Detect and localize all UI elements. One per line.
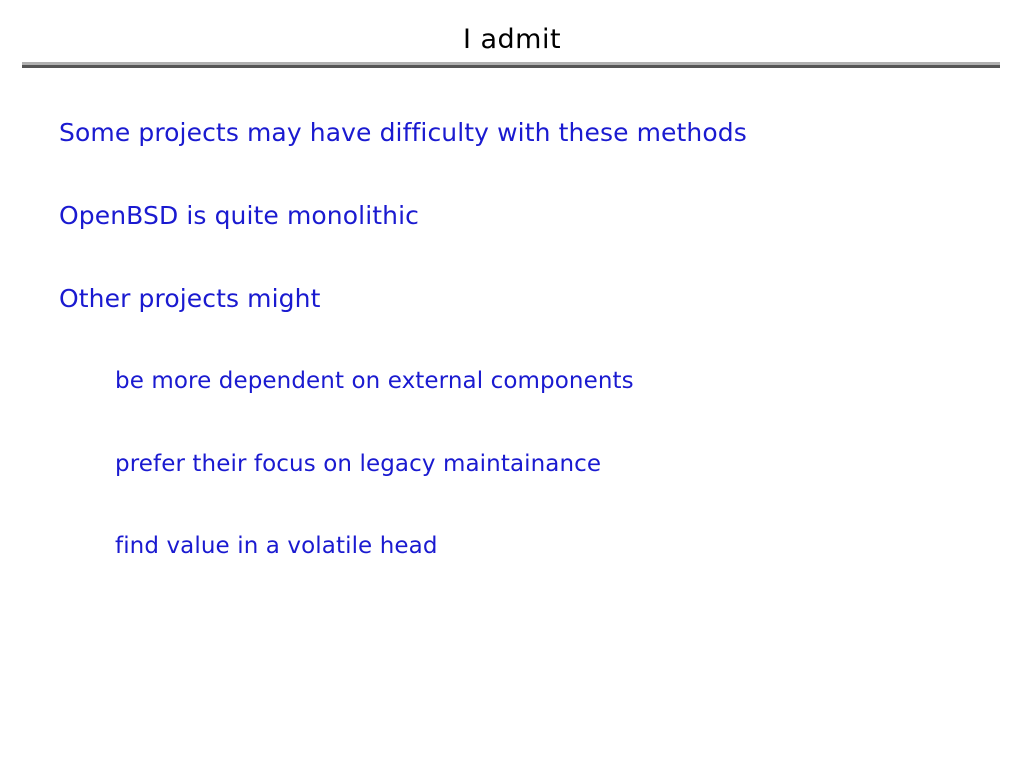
- slide: I admit Some projects may have difficult…: [0, 0, 1024, 768]
- bullet-item: OpenBSD is quite monolithic: [59, 203, 419, 228]
- sub-bullet-item: find value in a volatile head: [115, 535, 438, 558]
- bullet-item: Other projects might: [59, 286, 321, 311]
- slide-body: Some projects may have difficulty with t…: [0, 0, 1024, 768]
- bullet-item: Some projects may have difficulty with t…: [59, 120, 747, 145]
- sub-bullet-item: prefer their focus on legacy maintainanc…: [115, 453, 601, 476]
- sub-bullet-item: be more dependent on external components: [115, 370, 634, 393]
